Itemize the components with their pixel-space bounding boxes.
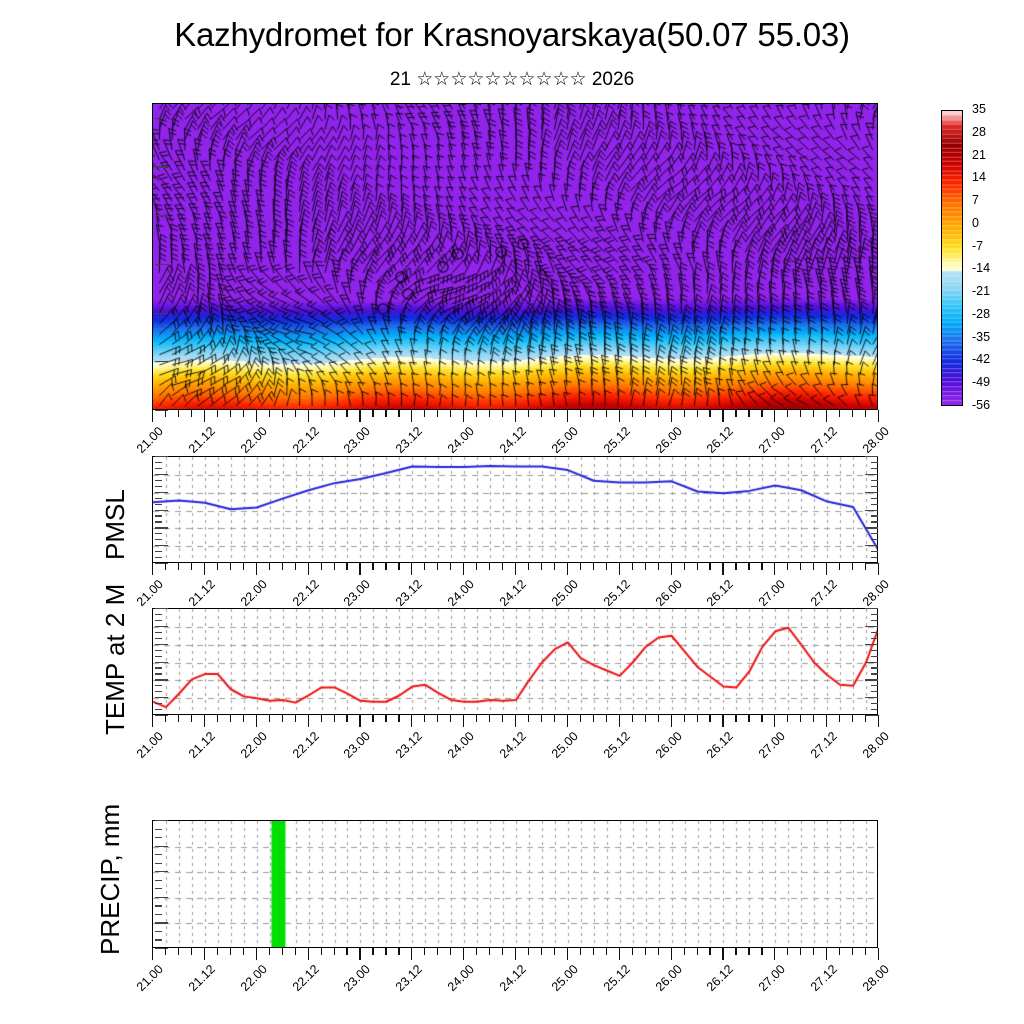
x-tick-mark — [839, 948, 840, 955]
x-tick-mark — [878, 948, 879, 960]
colorbar-tick-label: -35 — [972, 331, 990, 344]
x-tick-mark — [191, 715, 192, 722]
x-tick-mark — [645, 410, 646, 417]
y-tick-mark — [155, 474, 168, 475]
y-tick-mark-right — [871, 462, 878, 463]
y-minor-tick — [155, 462, 162, 463]
y-tick-mark-right — [871, 620, 878, 621]
x-tick-mark — [528, 410, 529, 417]
x-tick-mark — [217, 948, 218, 955]
x-tick-mark — [346, 563, 347, 570]
x-tick-mark — [308, 410, 309, 422]
x-tick-mark — [671, 948, 672, 960]
x-tick-mark — [722, 715, 723, 727]
y-tick-mark-right — [865, 563, 878, 564]
colorbar-tick-label: -56 — [972, 399, 990, 412]
x-tick-mark — [489, 715, 490, 722]
x-tick-mark — [671, 563, 672, 575]
x-tick-mark — [735, 563, 736, 570]
x-tick-mark — [191, 410, 192, 417]
y-tick-mark — [155, 897, 168, 898]
x-tick-mark — [321, 948, 322, 955]
x-tick-mark — [385, 410, 386, 417]
x-tick-mark — [580, 563, 581, 570]
y-tick-mark — [155, 166, 168, 167]
colorbar-tick-label: -21 — [972, 285, 990, 298]
y-tick-mark — [155, 626, 168, 627]
x-tick-mark — [541, 563, 542, 570]
x-tick-mark — [567, 563, 568, 575]
x-tick-mark — [502, 948, 503, 955]
y-tick-mark — [155, 361, 168, 362]
x-tick-mark — [774, 948, 775, 960]
x-tick-mark — [528, 563, 529, 570]
x-tick-mark — [567, 715, 568, 727]
x-tick-mark — [308, 948, 309, 960]
y-tick-mark — [155, 510, 168, 511]
x-tick-mark — [463, 410, 464, 422]
x-tick-mark — [748, 410, 749, 417]
x-tick-mark — [606, 715, 607, 722]
x-tick-mark — [230, 715, 231, 722]
x-tick-mark — [295, 563, 296, 570]
colorbar-tick-label: -7 — [972, 240, 983, 253]
y-tick-mark-right — [865, 527, 878, 528]
x-tick-mark — [346, 715, 347, 722]
x-tick-label: 26.00 — [643, 962, 684, 1003]
x-tick-mark — [398, 715, 399, 722]
x-tick-mark — [554, 563, 555, 570]
x-tick-label: 27.00 — [747, 962, 788, 1003]
x-tick-label: 22.12 — [280, 962, 321, 1003]
x-tick-mark — [684, 715, 685, 722]
y-minor-tick — [155, 638, 162, 639]
x-tick-mark — [217, 715, 218, 722]
x-tick-mark — [230, 410, 231, 417]
y-tick-mark-right — [871, 468, 878, 469]
x-tick-mark — [178, 563, 179, 570]
x-tick-mark — [787, 715, 788, 722]
x-tick-mark — [593, 410, 594, 417]
x-tick-mark — [632, 715, 633, 722]
x-tick-mark — [334, 715, 335, 722]
precip-axis-label: PRECIP, mm — [95, 804, 126, 955]
y-tick-mark-right — [871, 685, 878, 686]
colorbar-tick-label: -14 — [972, 262, 990, 275]
x-tick-mark — [476, 948, 477, 955]
x-tick-mark — [865, 948, 866, 955]
y-tick-mark-right — [865, 679, 878, 680]
x-tick-mark — [761, 563, 762, 570]
x-tick-label: 27.12 — [799, 962, 840, 1003]
y-tick-mark-right — [871, 673, 878, 674]
x-tick-mark — [269, 715, 270, 722]
x-tick-mark — [761, 410, 762, 417]
x-tick-mark — [385, 715, 386, 722]
x-tick-label: 24.00 — [436, 962, 477, 1003]
x-tick-mark — [878, 410, 879, 422]
x-tick-mark — [489, 948, 490, 955]
x-tick-mark — [256, 715, 257, 727]
x-tick-mark — [826, 715, 827, 727]
y-tick-mark — [155, 545, 168, 546]
x-tick-mark — [541, 410, 542, 417]
y-minor-tick — [155, 515, 162, 516]
x-tick-mark — [372, 948, 373, 955]
x-tick-mark — [709, 410, 710, 417]
x-tick-mark — [800, 410, 801, 417]
y-tick-mark-right — [865, 492, 878, 493]
y-minor-tick — [155, 829, 162, 830]
x-tick-mark — [204, 948, 205, 960]
y-tick-mark-right — [871, 650, 878, 651]
y-tick-mark — [155, 492, 168, 493]
y-tick-mark — [155, 697, 168, 698]
x-tick-mark — [528, 948, 529, 955]
y-minor-tick — [155, 880, 162, 881]
x-tick-mark — [424, 563, 425, 570]
x-tick-label: 21.12 — [177, 729, 218, 770]
y-tick-mark — [155, 215, 168, 216]
x-tick-mark — [346, 410, 347, 417]
x-tick-mark — [256, 563, 257, 575]
colorbar-tick-label: -28 — [972, 308, 990, 321]
x-tick-mark — [658, 410, 659, 417]
x-tick-mark — [709, 563, 710, 570]
y-minor-tick — [155, 498, 162, 499]
colorbar-tick-label: 28 — [972, 126, 986, 139]
x-tick-mark — [632, 948, 633, 955]
y-minor-tick — [155, 504, 162, 505]
colorbar-tick-label: -49 — [972, 376, 990, 389]
y-tick-mark — [155, 662, 168, 663]
x-tick-mark — [243, 563, 244, 570]
y-tick-mark-right — [871, 533, 878, 534]
y-minor-tick — [155, 837, 162, 838]
y-minor-tick — [155, 632, 162, 633]
x-tick-mark — [697, 948, 698, 955]
x-tick-mark — [230, 948, 231, 955]
x-tick-mark — [191, 948, 192, 955]
x-tick-mark — [411, 563, 412, 575]
y-tick-mark-right — [865, 474, 878, 475]
x-tick-mark — [722, 948, 723, 960]
x-tick-mark — [735, 715, 736, 722]
y-minor-tick — [155, 691, 162, 692]
y-tick-mark-right — [871, 551, 878, 552]
x-tick-mark — [398, 410, 399, 417]
x-tick-mark — [334, 948, 335, 955]
x-tick-label: 26.00 — [643, 729, 684, 770]
x-tick-mark — [761, 715, 762, 722]
colorbar-tick-label: -42 — [972, 353, 990, 366]
y-tick-mark-right — [865, 456, 878, 457]
x-tick-mark — [450, 563, 451, 570]
x-tick-mark — [554, 715, 555, 722]
x-tick-mark — [165, 715, 166, 722]
y-minor-tick — [155, 656, 162, 657]
x-tick-label: 26.12 — [695, 962, 736, 1003]
y-minor-tick — [155, 863, 162, 864]
x-tick-mark — [735, 948, 736, 955]
x-tick-label: 26.12 — [695, 729, 736, 770]
x-tick-mark — [697, 563, 698, 570]
x-tick-mark — [865, 563, 866, 570]
pmsl-panel[interactable] — [152, 456, 878, 563]
y-tick-mark-right — [865, 644, 878, 645]
x-tick-mark — [282, 948, 283, 955]
colorbar-tick-label: 35 — [972, 103, 986, 116]
x-tick-mark — [826, 410, 827, 422]
x-tick-mark — [839, 715, 840, 722]
x-tick-label: 21.00 — [125, 729, 166, 770]
x-tick-mark — [748, 563, 749, 570]
x-tick-mark — [800, 948, 801, 955]
x-tick-mark — [191, 563, 192, 570]
x-tick-mark — [839, 563, 840, 570]
y-tick-mark — [155, 456, 168, 457]
x-tick-mark — [437, 715, 438, 722]
x-tick-mark — [372, 715, 373, 722]
x-tick-mark — [606, 948, 607, 955]
x-tick-mark — [165, 948, 166, 955]
y-minor-tick — [155, 614, 162, 615]
y-tick-mark-right — [871, 480, 878, 481]
y-minor-tick — [155, 939, 162, 940]
x-tick-mark — [308, 563, 309, 575]
x-tick-mark — [269, 410, 270, 417]
y-tick-mark-right — [871, 709, 878, 710]
y-tick-mark — [155, 527, 168, 528]
y-minor-tick — [155, 703, 162, 704]
temp-panel[interactable] — [152, 608, 878, 715]
y-minor-tick — [155, 539, 162, 540]
upper-air-cross-section-panel[interactable] — [152, 103, 878, 410]
precip-panel[interactable] — [152, 820, 878, 948]
x-tick-mark — [295, 948, 296, 955]
y-minor-tick — [155, 468, 162, 469]
x-tick-mark — [580, 948, 581, 955]
colorbar-tick-label: 14 — [972, 171, 986, 184]
x-tick-label: 24.00 — [436, 729, 477, 770]
y-tick-mark-right — [865, 608, 878, 609]
x-tick-mark — [684, 948, 685, 955]
x-tick-mark — [178, 410, 179, 417]
x-tick-mark — [515, 948, 516, 960]
x-tick-label: 23.12 — [384, 729, 425, 770]
x-tick-label: 24.12 — [488, 729, 529, 770]
x-tick-mark — [437, 563, 438, 570]
x-tick-mark — [346, 948, 347, 955]
x-tick-mark — [463, 715, 464, 727]
x-tick-mark — [748, 948, 749, 955]
x-tick-mark — [385, 563, 386, 570]
y-minor-tick — [155, 620, 162, 621]
x-tick-label: 27.00 — [747, 729, 788, 770]
y-tick-mark-right — [865, 697, 878, 698]
x-tick-mark — [826, 563, 827, 575]
y-tick-mark — [155, 313, 168, 314]
page-subtitle: 21 ☆☆☆☆☆☆☆☆☆☆ 2026 — [0, 68, 1024, 91]
x-tick-label: 25.00 — [540, 962, 581, 1003]
x-tick-mark — [826, 948, 827, 960]
x-tick-mark — [619, 715, 620, 727]
y-tick-mark-right — [865, 662, 878, 663]
y-minor-tick — [155, 521, 162, 522]
y-tick-mark-right — [871, 504, 878, 505]
x-tick-mark — [567, 410, 568, 422]
colorbar-tick-label: 21 — [972, 149, 986, 162]
x-tick-mark — [398, 948, 399, 955]
x-tick-mark — [515, 563, 516, 575]
y-tick-mark-right — [871, 638, 878, 639]
y-tick-mark-right — [871, 498, 878, 499]
x-tick-mark — [502, 715, 503, 722]
x-tick-label: 25.12 — [592, 962, 633, 1003]
x-tick-mark — [243, 715, 244, 722]
x-tick-mark — [282, 410, 283, 417]
temp-axis-label: TEMP at 2 M — [100, 584, 131, 735]
x-tick-label: 24.12 — [488, 962, 529, 1003]
page-title: Kazhydromet for Krasnoyarskaya(50.07 55.… — [0, 16, 1024, 54]
y-tick-mark-right — [871, 515, 878, 516]
x-tick-mark — [709, 715, 710, 722]
x-tick-mark — [567, 948, 568, 960]
x-tick-mark — [502, 410, 503, 417]
y-minor-tick — [155, 650, 162, 651]
x-tick-mark — [748, 715, 749, 722]
x-tick-mark — [217, 410, 218, 417]
x-tick-mark — [359, 948, 360, 960]
x-tick-mark — [424, 410, 425, 417]
x-tick-mark — [684, 563, 685, 570]
y-minor-tick — [155, 854, 162, 855]
x-tick-mark — [787, 948, 788, 955]
x-tick-mark — [554, 948, 555, 955]
x-tick-mark — [178, 948, 179, 955]
x-tick-mark — [334, 410, 335, 417]
x-tick-mark — [709, 948, 710, 955]
x-tick-mark — [593, 948, 594, 955]
y-tick-mark — [155, 820, 168, 821]
y-tick-mark — [155, 118, 168, 119]
x-tick-label: 23.00 — [332, 962, 373, 1003]
x-tick-mark — [398, 563, 399, 570]
x-tick-mark — [813, 410, 814, 417]
x-tick-mark — [852, 715, 853, 722]
x-tick-mark — [722, 563, 723, 575]
x-tick-mark — [852, 948, 853, 955]
temperature-colorbar[interactable] — [941, 110, 963, 406]
x-tick-mark — [735, 410, 736, 417]
y-minor-tick — [155, 888, 162, 889]
x-tick-mark — [424, 948, 425, 955]
y-minor-tick — [155, 480, 162, 481]
x-tick-mark — [256, 410, 257, 422]
x-tick-label: 23.00 — [332, 729, 373, 770]
y-tick-mark-right — [865, 545, 878, 546]
x-tick-mark — [450, 715, 451, 722]
x-tick-label: 23.12 — [384, 962, 425, 1003]
x-tick-mark — [502, 563, 503, 570]
colorbar-tick-label: 7 — [972, 194, 979, 207]
x-tick-mark — [450, 410, 451, 417]
x-tick-mark — [878, 715, 879, 727]
y-minor-tick — [155, 709, 162, 710]
x-tick-mark — [761, 948, 762, 955]
x-tick-mark — [774, 715, 775, 727]
x-tick-mark — [334, 563, 335, 570]
x-tick-mark — [476, 715, 477, 722]
x-tick-label: 27.12 — [799, 729, 840, 770]
x-tick-mark — [619, 948, 620, 960]
x-tick-mark — [658, 948, 659, 955]
x-tick-mark — [269, 948, 270, 955]
x-tick-label: 22.00 — [229, 729, 270, 770]
x-tick-mark — [152, 410, 153, 422]
x-tick-mark — [722, 410, 723, 422]
x-tick-label: 21.00 — [125, 962, 166, 1003]
x-tick-mark — [865, 715, 866, 722]
x-tick-mark — [437, 410, 438, 417]
y-tick-mark-right — [871, 486, 878, 487]
x-tick-mark — [282, 563, 283, 570]
x-tick-mark — [204, 563, 205, 575]
y-minor-tick — [155, 905, 162, 906]
x-tick-label: 22.00 — [229, 962, 270, 1003]
x-tick-mark — [165, 410, 166, 417]
x-tick-mark — [515, 410, 516, 422]
x-tick-mark — [528, 715, 529, 722]
x-tick-mark — [372, 410, 373, 417]
y-minor-tick — [155, 557, 162, 558]
y-tick-mark-right — [871, 557, 878, 558]
x-tick-mark — [697, 410, 698, 417]
x-tick-mark — [645, 948, 646, 955]
x-tick-mark — [295, 715, 296, 722]
y-tick-mark-right — [865, 626, 878, 627]
x-tick-mark — [813, 563, 814, 570]
y-tick-mark — [155, 644, 168, 645]
x-tick-mark — [359, 563, 360, 575]
x-tick-mark — [437, 948, 438, 955]
x-tick-mark — [204, 410, 205, 422]
x-tick-mark — [230, 563, 231, 570]
y-tick-mark — [155, 608, 168, 609]
y-minor-tick — [155, 685, 162, 686]
x-tick-mark — [697, 715, 698, 722]
y-tick-mark-right — [871, 614, 878, 615]
x-tick-mark — [671, 715, 672, 727]
y-tick-mark — [155, 264, 168, 265]
x-tick-mark — [684, 410, 685, 417]
x-tick-mark — [580, 715, 581, 722]
y-tick-mark-right — [871, 703, 878, 704]
x-tick-mark — [424, 715, 425, 722]
y-tick-mark — [155, 922, 168, 923]
y-minor-tick — [155, 667, 162, 668]
x-tick-mark — [606, 410, 607, 417]
x-tick-mark — [774, 563, 775, 575]
x-tick-mark — [178, 715, 179, 722]
x-tick-mark — [632, 410, 633, 417]
x-tick-mark — [152, 563, 153, 575]
x-tick-mark — [658, 563, 659, 570]
x-tick-mark — [256, 948, 257, 960]
x-tick-mark — [359, 410, 360, 422]
x-tick-mark — [813, 715, 814, 722]
x-tick-mark — [658, 715, 659, 722]
